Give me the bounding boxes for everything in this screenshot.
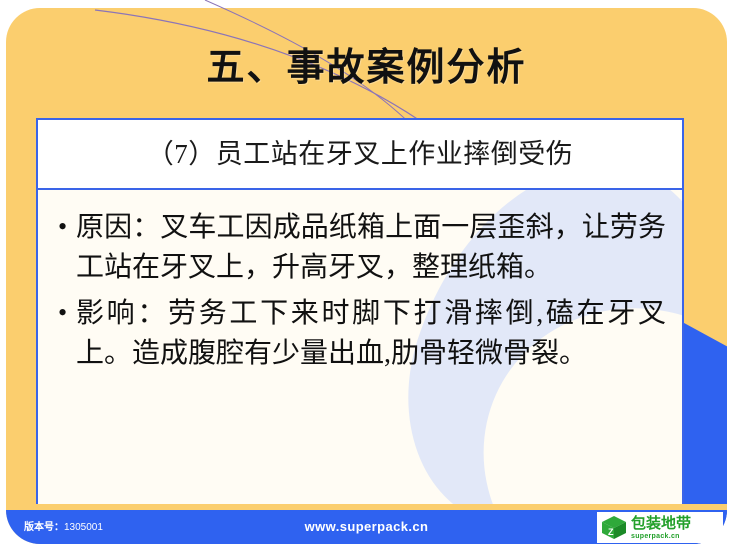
logo-wordmark: 包装地带 superpack.cn [631,516,691,540]
subtitle-text: （7）员工站在牙叉上作业摔倒受伤 [147,141,574,168]
bullet-marker-icon: • [58,294,76,332]
superpack-logo[interactable]: Z 包装地带 superpack.cn [597,512,723,543]
list-item: • 影响：劳务工下来时脚下打滑摔倒,磕在牙叉上。造成腹腔有少量出血,肋骨轻微骨裂… [58,294,666,374]
bullet-list: • 原因：叉车工因成品纸箱上面一层歪斜，让劳务工站在牙叉上，升高牙叉，整理纸箱。… [38,190,682,374]
svg-text:Z: Z [608,527,614,537]
content-panel: • 原因：叉车工因成品纸箱上面一层歪斜，让劳务工站在牙叉上，升高牙叉，整理纸箱。… [36,190,684,507]
footer-bar: 版本号：1305001 www.superpack.cn Z 包装地带 supe… [6,510,727,544]
page-title: 五、事故案例分析 [0,36,733,91]
list-item: • 原因：叉车工因成品纸箱上面一层歪斜，让劳务工站在牙叉上，升高牙叉，整理纸箱。 [58,208,666,288]
logo-chinese-name: 包装地带 [631,516,691,531]
subtitle-box: （7）员工站在牙叉上作业摔倒受伤 [36,118,684,190]
bullet-marker-icon: • [58,208,76,246]
bullet-text-impact: 影响：劳务工下来时脚下打滑摔倒,磕在牙叉上。造成腹腔有少量出血,肋骨轻微骨裂。 [76,294,666,374]
bullet-text-cause: 原因：叉车工因成品纸箱上面一层歪斜，让劳务工站在牙叉上，升高牙叉，整理纸箱。 [76,208,666,288]
green-box-icon: Z [600,515,628,540]
logo-domain: superpack.cn [631,533,691,540]
slide-canvas: 五、事故案例分析 （7）员工站在牙叉上作业摔倒受伤 • 原因：叉车工因成品纸箱上… [0,0,733,550]
